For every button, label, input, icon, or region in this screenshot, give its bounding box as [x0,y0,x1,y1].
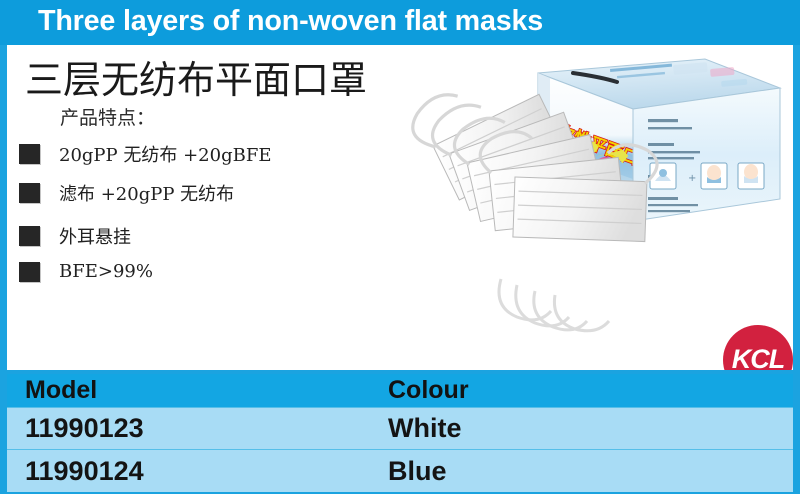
feature-text: 滤布 +20gPP 无纺布 [59,180,234,206]
content-panel: 三层无纺布平面口罩 产品特点： 20gPP 无纺布 +20gBFE 滤布 +20… [7,45,793,370]
cell-colour: White [388,413,462,444]
square-bullet-icon [19,262,40,282]
page-title: Three layers of non-woven flat masks [38,5,543,38]
cell-colour: Blue [388,456,447,487]
list-item: 滤布 +20gPP 无纺布 [19,180,234,206]
cell-model: 11990124 [25,456,144,487]
table-header-row: Model Colour [7,374,793,407]
cell-model: 11990123 [25,413,144,444]
feature-text: 外耳悬挂 [59,223,131,249]
kcl-logo-text: KCL [732,344,785,371]
list-item: 外耳悬挂 [19,223,131,249]
feature-text: BFE>99% [59,261,153,282]
table-row: 11990124 Blue [7,450,793,492]
square-bullet-icon [19,226,40,246]
feature-list-heading: 产品特点： [60,103,155,130]
column-header-colour: Colour [388,376,469,405]
header-bar: Three layers of non-woven flat masks [0,0,800,45]
list-item: BFE>99% [19,261,153,282]
product-spec-sheet: Three layers of non-woven flat masks 三层无… [0,0,800,494]
column-header-model: Model [25,376,97,405]
feature-text: 20gPP 无纺布 +20gBFE [59,141,271,167]
square-bullet-icon [19,144,40,164]
square-bullet-icon [19,183,40,203]
product-photo: 一次性平面口罩 [405,51,793,341]
spec-table: Model Colour 11990123 White 11990124 Blu… [7,374,793,492]
table-row: 11990123 White [7,408,793,449]
product-title-chinese: 三层无纺布平面口罩 [25,49,367,104]
svg-text:+: + [688,173,696,184]
list-item: 20gPP 无纺布 +20gBFE [19,141,271,167]
